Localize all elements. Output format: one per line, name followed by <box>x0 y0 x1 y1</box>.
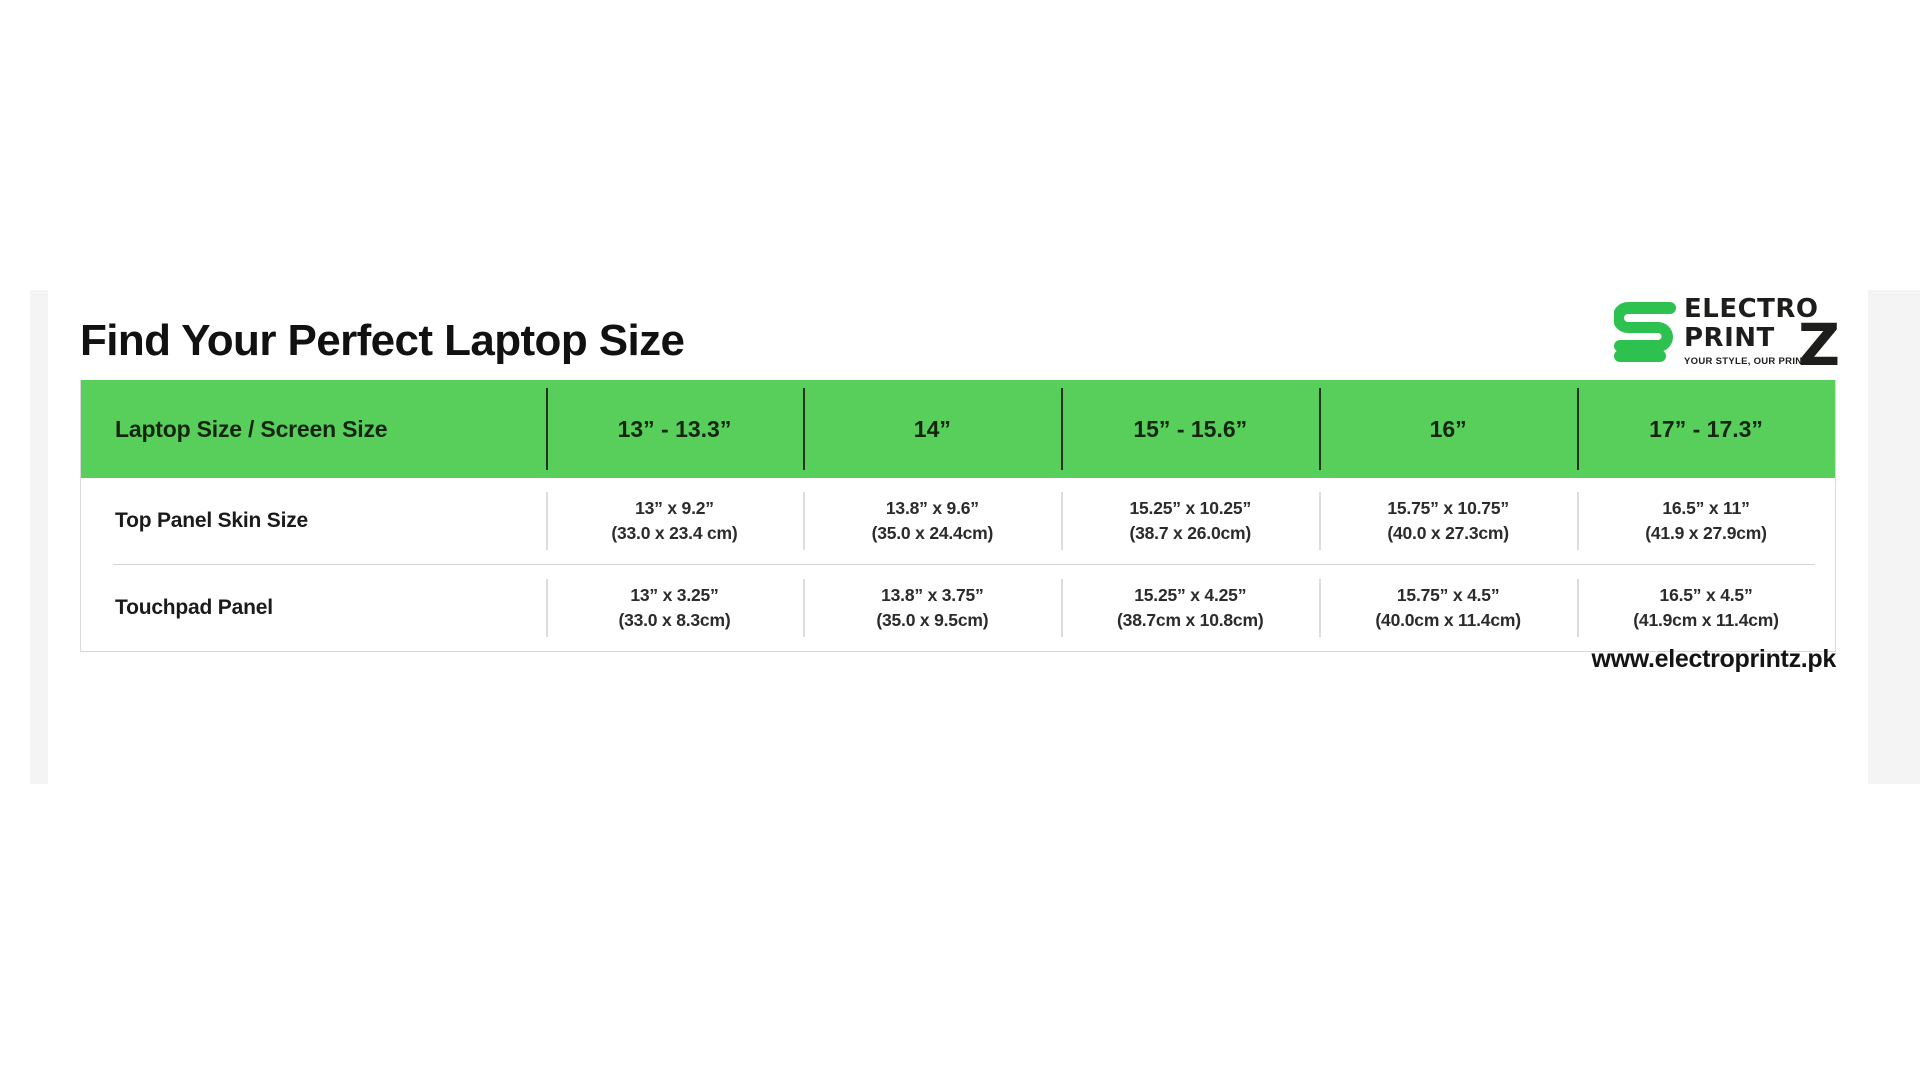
cell-inches: 13” x 9.2” <box>635 498 714 518</box>
header-label-text: Laptop Size / Screen Size <box>115 416 387 443</box>
header-size-16: 16” <box>1319 416 1577 443</box>
cell-touchpad-15: 15.25” x 4.25” (38.7cm x 10.8cm) <box>1061 565 1319 651</box>
cell-inches: 15.75” x 4.5” <box>1397 585 1499 605</box>
cell-cm: (38.7cm x 10.8cm) <box>1061 608 1319 633</box>
cell-top-panel-14: 13.8” x 9.6” (35.0 x 24.4cm) <box>803 478 1061 564</box>
header-size-14: 14” <box>803 416 1061 443</box>
cell-top-panel-15: 15.25” x 10.25” (38.7 x 26.0cm) <box>1061 478 1319 564</box>
content-area: Find Your Perfect Laptop Size ELECTRO PR… <box>48 290 1868 784</box>
cell-top-panel-13: 13” x 9.2” (33.0 x 23.4 cm) <box>546 478 804 564</box>
cell-inches: 15.75” x 10.75” <box>1387 498 1509 518</box>
laptop-size-table: Laptop Size / Screen Size 13” - 13.3” 14… <box>80 380 1836 652</box>
cell-inches: 13.8” x 3.75” <box>881 585 983 605</box>
cell-cm: (35.0 x 24.4cm) <box>803 521 1061 546</box>
cell-top-panel-17: 16.5” x 11” (41.9 x 27.9cm) <box>1577 478 1835 564</box>
page-canvas: Find Your Perfect Laptop Size ELECTRO PR… <box>0 0 1920 1080</box>
cell-touchpad-16: 15.75” x 4.5” (40.0cm x 11.4cm) <box>1319 565 1577 651</box>
cell-cm: (35.0 x 9.5cm) <box>803 608 1061 633</box>
logo-letter-z: Z <box>1798 316 1840 374</box>
cell-inches: 16.5” x 4.5” <box>1660 585 1753 605</box>
cell-cm: (41.9cm x 11.4cm) <box>1577 608 1835 633</box>
table-row: Touchpad Panel 13” x 3.25” (33.0 x 8.3cm… <box>81 565 1835 651</box>
header-size-15: 15” - 15.6” <box>1061 416 1319 443</box>
cell-touchpad-13: 13” x 3.25” (33.0 x 8.3cm) <box>546 565 804 651</box>
header-size-17: 17” - 17.3” <box>1577 416 1835 443</box>
cell-inches: 13.8” x 9.6” <box>886 498 979 518</box>
cell-cm: (40.0cm x 11.4cm) <box>1319 608 1577 633</box>
row-label-cell: Touchpad Panel <box>81 565 546 651</box>
page-title: Find Your Perfect Laptop Size <box>80 316 684 366</box>
cell-cm: (33.0 x 8.3cm) <box>546 608 804 633</box>
cell-cm: (41.9 x 27.9cm) <box>1577 521 1835 546</box>
cell-inches: 15.25” x 4.25” <box>1134 585 1246 605</box>
left-gutter-band <box>30 290 48 784</box>
cell-touchpad-17: 16.5” x 4.5” (41.9cm x 11.4cm) <box>1577 565 1835 651</box>
table-row: Top Panel Skin Size 13” x 9.2” (33.0 x 2… <box>81 478 1835 564</box>
row-label-text: Touchpad Panel <box>115 596 273 620</box>
row-label-text: Top Panel Skin Size <box>115 509 308 533</box>
cell-touchpad-14: 13.8” x 3.75” (35.0 x 9.5cm) <box>803 565 1061 651</box>
header-cell-16: 16” <box>1319 380 1577 478</box>
cell-inches: 15.25” x 10.25” <box>1129 498 1251 518</box>
cell-cm: (33.0 x 23.4 cm) <box>546 521 804 546</box>
cell-inches: 16.5” x 11” <box>1662 498 1749 518</box>
e-swirl-icon <box>1614 298 1676 364</box>
header-cell-17: 17” - 17.3” <box>1577 380 1835 478</box>
table-header-row: Laptop Size / Screen Size 13” - 13.3” 14… <box>81 380 1835 478</box>
cell-inches: 13” x 3.25” <box>630 585 718 605</box>
header-row: Find Your Perfect Laptop Size ELECTRO PR… <box>80 290 1836 394</box>
cell-cm: (40.0 x 27.3cm) <box>1319 521 1577 546</box>
website-url[interactable]: www.electroprintz.pk <box>1591 645 1836 674</box>
header-cell-15: 15” - 15.6” <box>1061 380 1319 478</box>
header-size-13: 13” - 13.3” <box>546 416 804 443</box>
logo-wordmark: ELECTRO PRINT YOUR STYLE, OUR PRINT Z <box>1684 294 1836 368</box>
header-cell-13: 13” - 13.3” <box>546 380 804 478</box>
header-cell-14: 14” <box>803 380 1061 478</box>
brand-logo: ELECTRO PRINT YOUR STYLE, OUR PRINT Z <box>1614 292 1836 370</box>
cell-top-panel-16: 15.75” x 10.75” (40.0 x 27.3cm) <box>1319 478 1577 564</box>
header-cell-label: Laptop Size / Screen Size <box>81 380 546 478</box>
right-gutter-band <box>1868 290 1920 784</box>
row-label-cell: Top Panel Skin Size <box>81 478 546 564</box>
cell-cm: (38.7 x 26.0cm) <box>1061 521 1319 546</box>
